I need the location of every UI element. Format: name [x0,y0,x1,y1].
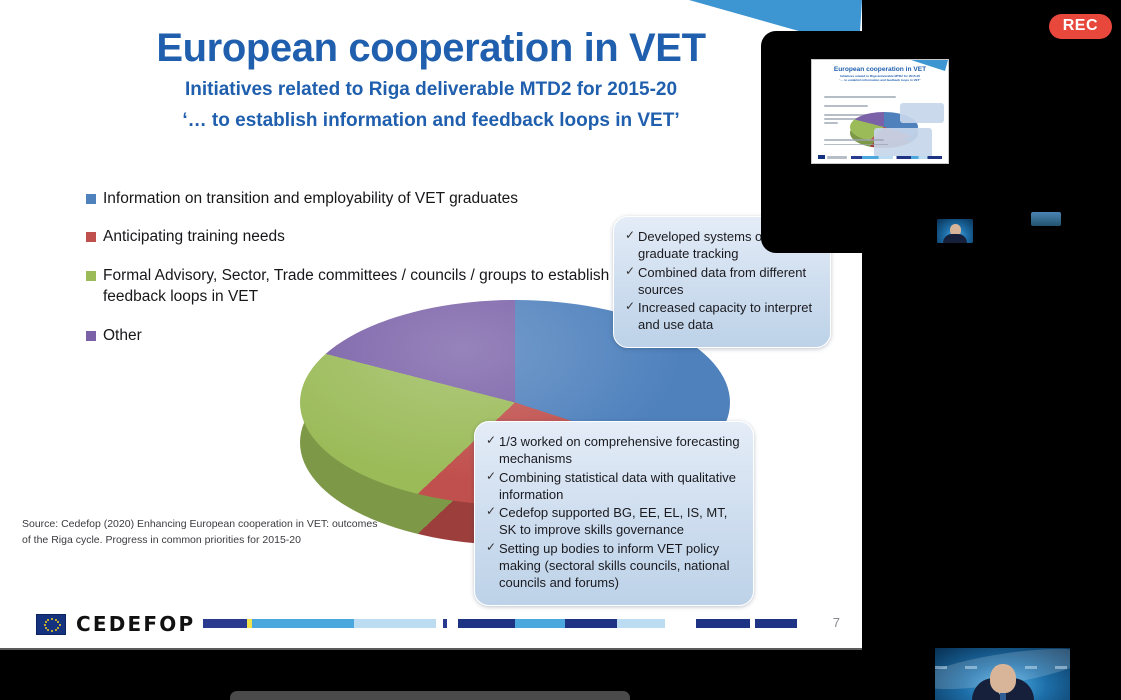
check-icon: ✓ [486,540,499,592]
legend-swatch-0 [86,194,96,204]
callout-item: ✓ 1/3 worked on comprehensive forecastin… [486,433,740,468]
eu-star-icon [45,627,47,629]
picture-in-picture-panel[interactable]: European cooperation in VET Initiatives … [761,31,979,253]
eu-star-icon [47,619,49,621]
eu-star-icon [57,627,59,629]
footer-divider [0,648,862,650]
callout-item: ✓ Combining statistical data with qualit… [486,469,740,504]
eu-star-icon [45,621,47,623]
callout-text: Combined data from different sources [638,264,817,299]
eu-star-icon [59,624,61,626]
footer-bar-segment [252,619,354,628]
footer-decorative-bar [203,619,797,628]
thumbnail-title: European cooperation in VET [812,66,948,73]
eu-star-icon [47,629,49,631]
cedefop-wordmark: CEDEFOP [76,612,195,636]
footer-bar-segment [665,619,696,628]
legend-label-0: Information on transition and employabil… [103,188,518,209]
webcam-person-head [990,664,1016,693]
legend-swatch-3 [86,331,96,341]
thumbnail-legend-line [824,96,896,98]
footer-bar-segment [515,619,565,628]
thumbnail-footer-bar [851,156,942,159]
participant-webcam-tile[interactable] [935,648,1070,700]
callout-text: Increased capacity to interpret and use … [638,299,817,334]
thumbnail-footer [818,155,942,159]
check-icon: ✓ [486,469,499,504]
check-icon: ✓ [625,299,638,334]
callout-item: ✓ Increased capacity to interpret and us… [625,299,817,334]
page-number: 7 [833,615,840,630]
callout-text: Cedefop supported BG, EE, EL, IS, MT, SK… [499,504,740,539]
cedefop-logo: CEDEFOP [36,612,195,636]
thumbnail-callout-top [900,103,944,123]
callout-item: ✓ Combined data from different sources [625,264,817,299]
legend-label-3: Other [103,325,142,346]
eu-flag-icon [36,614,66,635]
callout-text: 1/3 worked on comprehensive forecasting … [499,433,740,468]
webcam-person-body [943,234,967,243]
slide-title: European cooperation in VET [0,26,862,70]
check-icon: ✓ [625,228,638,263]
check-icon: ✓ [486,504,499,539]
recording-badge: REC [1049,14,1112,39]
eu-star-icon [55,619,57,621]
nested-webcam-thumbnail [937,219,973,243]
check-icon: ✓ [625,264,638,299]
slide-subtitle-2: ‘… to establish information and feedback… [0,109,862,133]
eu-star-icon [57,621,59,623]
thumbnail-legend-line [824,122,838,124]
footer-bar-segment [203,619,247,628]
shared-screen-thumbnail: European cooperation in VET Initiatives … [811,59,949,164]
footer-bar-segment [696,619,750,628]
callout-forecasting: ✓ 1/3 worked on comprehensive forecastin… [474,421,754,606]
callout-item: ✓ Setting up bodies to inform VET policy… [486,540,740,592]
check-icon: ✓ [486,433,499,468]
slide-footer: CEDEFOP 7 [0,604,862,650]
slide-subtitle-1: Initiatives related to Riga deliverable … [0,78,862,102]
legend-item: Information on transition and employabil… [86,188,626,209]
slide-subtitles: Initiatives related to Riga deliverable … [0,78,862,133]
thumbnail-logo-line [827,156,847,159]
presentation-slide: European cooperation in VET Initiatives … [0,0,862,650]
legend-item: Anticipating training needs [86,226,626,247]
eu-star-icon [51,618,53,620]
footer-bar-segment [447,619,458,628]
thumbnail-source-line [824,144,888,146]
screen-share-view: European cooperation in VET Initiatives … [0,0,1121,700]
eu-star-icon [55,629,57,631]
meeting-toolbar[interactable] [230,691,630,700]
eu-star-icon [44,624,46,626]
footer-bar-segment [617,619,665,628]
thumbnail-source-line [824,139,884,141]
thumbnail-legend-line [824,105,868,107]
footer-bar-segment [354,619,436,628]
footer-bar-segment [458,619,515,628]
eu-star-icon [51,630,53,632]
source-citation: Source: Cedefop (2020) Enhancing Europea… [22,517,382,549]
thumbnail-eu-flag-icon [818,155,825,159]
legend-label-1: Anticipating training needs [103,226,285,247]
callout-text: Setting up bodies to inform VET policy m… [499,540,740,592]
footer-bar-segment [755,619,796,628]
thumbnail-subtitle-2: ‘… to establish information and feedback… [812,79,948,83]
callout-text: Combining statistical data with qualitat… [499,469,740,504]
legend-swatch-2 [86,271,96,281]
legend-swatch-1 [86,232,96,242]
thumbnail-subtitles: Initiatives related to Riga deliverable … [812,75,948,83]
footer-bar-segment [565,619,617,628]
video-thumbnail-artifact [1031,212,1061,226]
callout-item: ✓ Cedefop supported BG, EE, EL, IS, MT, … [486,504,740,539]
